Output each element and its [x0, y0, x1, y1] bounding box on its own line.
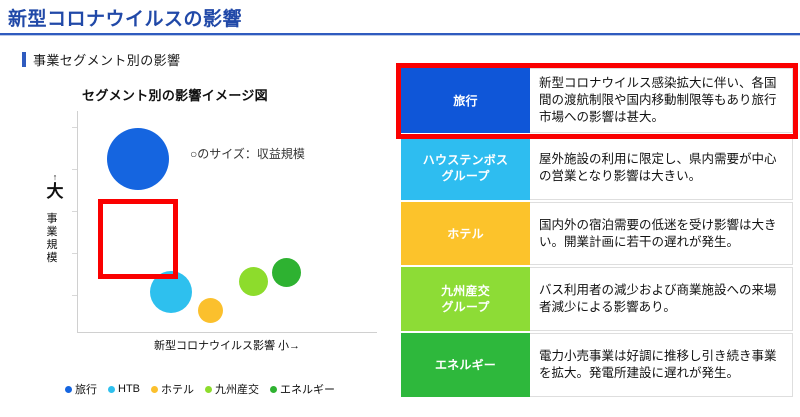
- section-bar-marker: [22, 52, 26, 67]
- segment-description-kyushu-sanko: バス利用者の減少および商業施設への来場者減少による影響あり。: [530, 267, 793, 331]
- x-axis-title: 新型コロナウイルス影響 小→: [77, 337, 377, 353]
- page-title: 新型コロナウイルスの影響: [8, 4, 242, 31]
- segment-label-huis-ten-bosch: ハウステンボスグループ: [401, 135, 530, 200]
- y-axis-tick: [72, 253, 77, 254]
- legend-label: HTB: [118, 383, 140, 395]
- segment-description-travel: 新型コロナウイルス感染拡大に伴い、各国間の渡航制限や国内移動制限等もあり旅行市場…: [530, 68, 793, 133]
- segment-label-energy: エネルギー: [401, 333, 530, 397]
- segment-impact-table: 旅行 新型コロナウイルス感染拡大に伴い、各国間の渡航制限や国内移動制限等もあり旅…: [401, 68, 793, 399]
- section-heading-label: 事業セグメント別の影響: [33, 50, 180, 69]
- legend-dot-icon: [108, 386, 115, 393]
- segment-description-hotel: 国内外の宿泊需要の低迷を受け影響は大きい。開業計画に若干の遅れが発生。: [530, 202, 793, 265]
- legend-dot-icon: [205, 386, 212, 393]
- legend-dot-icon: [65, 386, 72, 393]
- chart-highlight-box: [98, 199, 178, 279]
- legend-item-travel: 旅行: [65, 381, 97, 397]
- segment-description-huis-ten-bosch: 屋外施設の利用に限定し、県内需要が中心の営業となり影響は大きい。: [530, 135, 793, 200]
- legend-dot-icon: [270, 386, 277, 393]
- segment-label-hotel: ホテル: [401, 202, 530, 265]
- chart-title: セグメント別の影響イメージ図: [10, 85, 340, 104]
- table-row: ホテル 国内外の宿泊需要の低迷を受け影響は大きい。開業計画に若干の遅れが発生。: [401, 202, 793, 265]
- title-divider-soft: [0, 35, 800, 36]
- table-row: ハウステンボスグループ 屋外施設の利用に限定し、県内需要が中心の営業となり影響は…: [401, 135, 793, 200]
- y-axis-line: [77, 111, 78, 333]
- table-row: 旅行 新型コロナウイルス感染拡大に伴い、各国間の渡航制限や国内移動制限等もあり旅…: [401, 68, 793, 133]
- y-axis-tick: [72, 211, 77, 212]
- legend-label: ホテル: [161, 381, 194, 397]
- segment-label-travel: 旅行: [401, 68, 530, 133]
- x-axis-line: [77, 332, 377, 333]
- segment-label-kyushu-sanko: 九州産交グループ: [401, 267, 530, 331]
- legend-label: エネルギー: [280, 381, 335, 397]
- bubble-travel: [107, 128, 169, 190]
- y-axis-extreme-label: 大: [38, 182, 72, 201]
- table-row: 九州産交グループ バス利用者の減少および商業施設への来場者減少による影響あり。: [401, 267, 793, 331]
- legend-label: 旅行: [75, 381, 97, 397]
- y-axis-title: 事業規模: [44, 213, 60, 265]
- legend-dot-icon: [151, 386, 158, 393]
- y-axis-tick: [72, 295, 77, 296]
- y-axis-tick: [72, 169, 77, 170]
- segment-impact-chart: セグメント別の影響イメージ図 ↑ 大 事業規模 ○のサイズ：収益規模 新型コロナ…: [10, 85, 390, 410]
- y-axis-caption: ↑ 大: [38, 173, 72, 201]
- legend-label: 九州産交: [215, 381, 259, 397]
- legend-item-hotel: ホテル: [151, 381, 194, 397]
- y-axis-arrow: ↑: [38, 173, 72, 182]
- segment-description-energy: 電力小売事業は好調に推移し引き続き事業を拡大。発電所建設に遅れが発生。: [530, 333, 793, 397]
- section-heading: 事業セグメント別の影響: [22, 50, 180, 69]
- legend-item-energy: エネルギー: [270, 381, 335, 397]
- legend-item-kyushu-sanko: 九州産交: [205, 381, 259, 397]
- bubble-hotel: [198, 298, 223, 323]
- bubble-size-note: ○のサイズ：収益規模: [190, 145, 305, 162]
- legend-item-htb: HTB: [108, 383, 140, 395]
- y-axis-tick: [72, 127, 77, 128]
- bubble-kyushu-sanko: [239, 267, 268, 296]
- table-row: エネルギー 電力小売事業は好調に推移し引き続き事業を拡大。発電所建設に遅れが発生…: [401, 333, 793, 397]
- bubble-energy: [272, 258, 301, 287]
- chart-legend: 旅行 HTB ホテル 九州産交 エネルギー: [10, 381, 390, 397]
